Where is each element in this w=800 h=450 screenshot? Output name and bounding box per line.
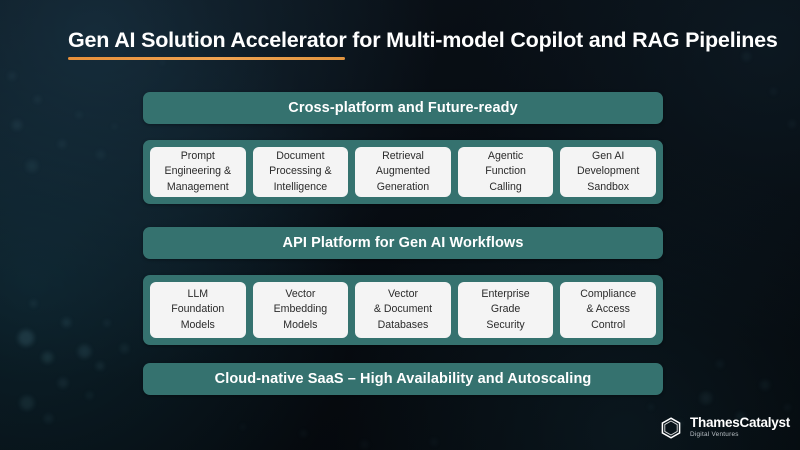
band-cloud-native: Cloud-native SaaS – High Availability an… xyxy=(143,363,663,395)
page-title-block: Gen AI Solution Accelerator for Multi-mo… xyxy=(68,28,778,53)
brand-name: ThamesCatalyst xyxy=(690,416,790,430)
brand-logo-text: ThamesCatalyst Digital Ventures xyxy=(690,416,790,440)
capability-card[interactable]: Vector Embedding Models xyxy=(253,282,349,338)
title-accent-underline xyxy=(68,57,345,60)
page-title-strong: Gen AI Solution Accelerator xyxy=(68,28,347,52)
slide-canvas: Gen AI Solution Accelerator for Multi-mo… xyxy=(0,0,800,450)
capability-card-label: Gen AI Development Sandbox xyxy=(577,149,639,194)
capability-card[interactable]: Gen AI Development Sandbox xyxy=(560,147,656,197)
capability-card[interactable]: Retrieval Augmented Generation xyxy=(355,147,451,197)
brand-tagline: Digital Ventures xyxy=(690,431,790,440)
capability-card[interactable]: Prompt Engineering & Management xyxy=(150,147,246,197)
band-api-platform: API Platform for Gen AI Workflows xyxy=(143,227,663,259)
capability-card-label: LLM Foundation Models xyxy=(171,287,224,332)
capability-card-label: Agentic Function Calling xyxy=(485,149,526,194)
capability-card-label: Compliance & Access Control xyxy=(580,287,636,332)
capability-card-label: Enterprise Grade Security xyxy=(481,287,529,332)
capability-card-label: Retrieval Augmented Generation xyxy=(376,149,430,194)
band-cloud-native-label: Cloud-native SaaS – High Availability an… xyxy=(215,371,592,387)
capability-card[interactable]: Enterprise Grade Security xyxy=(458,282,554,338)
band-api-platform-label: API Platform for Gen AI Workflows xyxy=(283,235,524,251)
band-cross-platform-label: Cross-platform and Future-ready xyxy=(288,100,518,116)
capability-card[interactable]: Vector & Document Databases xyxy=(355,282,451,338)
capability-card[interactable]: LLM Foundation Models xyxy=(150,282,246,338)
capability-card[interactable]: Document Processing & Intelligence xyxy=(253,147,349,197)
brand-logo: ThamesCatalyst Digital Ventures xyxy=(659,416,790,440)
capability-card[interactable]: Agentic Function Calling xyxy=(458,147,554,197)
band-cross-platform: Cross-platform and Future-ready xyxy=(143,92,663,124)
hexagon-outline-icon xyxy=(659,416,683,440)
capability-row-bottom: LLM Foundation Models Vector Embedding M… xyxy=(143,275,663,345)
capability-card-label: Vector & Document Databases xyxy=(374,287,432,332)
capability-card-label: Prompt Engineering & Management xyxy=(165,149,232,194)
capability-card[interactable]: Compliance & Access Control xyxy=(560,282,656,338)
capability-card-label: Document Processing & Intelligence xyxy=(269,149,331,194)
page-title: Gen AI Solution Accelerator for Multi-mo… xyxy=(68,28,778,53)
capability-row-top: Prompt Engineering & Management Document… xyxy=(143,140,663,204)
capability-card-label: Vector Embedding Models xyxy=(274,287,328,332)
page-title-rest: for Multi-model Copilot and RAG Pipeline… xyxy=(347,28,778,52)
